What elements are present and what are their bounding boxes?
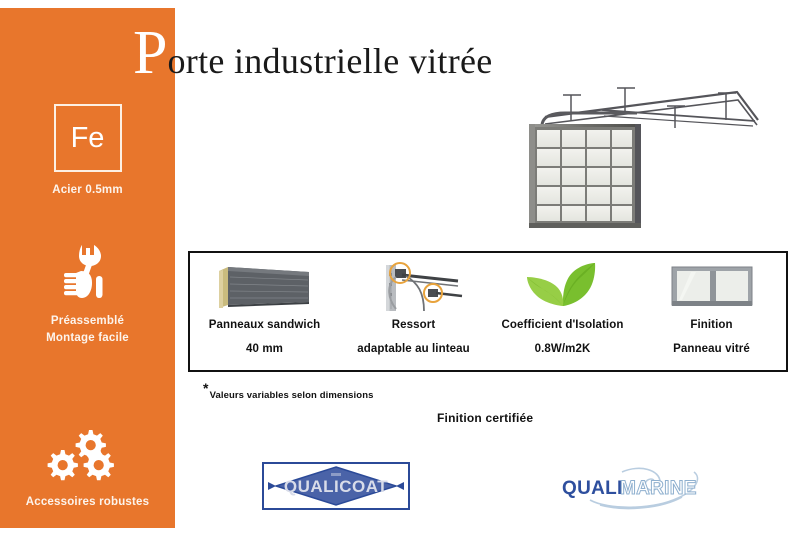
certification-heading: Finition certifiée	[437, 411, 533, 425]
page-title-text: orte industrielle vitrée	[167, 30, 492, 92]
hand-wrench-icon	[60, 243, 116, 301]
glazed-panel-icon	[660, 261, 764, 313]
fe-symbol-label: Fe	[71, 124, 105, 153]
spring-mechanism-icon	[362, 261, 466, 313]
feature-insulation-value: 0.8W/m2K	[535, 343, 591, 355]
sectional-glazed-door-icon	[505, 80, 780, 230]
feature-spring-art	[362, 258, 466, 316]
feature-panel: Panneaux sandwich 40 mm	[190, 253, 339, 370]
feature-panel-value: 40 mm	[246, 343, 283, 355]
sidebar-item-accessories-label: Accessoires robustes	[0, 494, 175, 511]
product-spec-sheet: Fe Acier 0.5mm Préassemblé Montage facil…	[0, 0, 800, 534]
feature-panel-art	[213, 258, 317, 316]
qualicoat-wordmark: QUALICOAT	[284, 477, 388, 496]
footnote-asterisk: *	[203, 380, 209, 396]
feature-spring-title: Ressort	[392, 319, 436, 331]
qualimarine-logo-mark: QUALI MARINE	[556, 466, 716, 510]
gears-icon	[45, 430, 131, 482]
qualicoat-logo: QUALICOAT	[262, 462, 410, 510]
fe-element-square-icon: Fe	[54, 104, 122, 172]
feature-insulation-art	[511, 258, 615, 316]
qualimarine-wordmark-primary: QUALI	[562, 478, 623, 499]
feature-finish-value: Panneau vitré	[673, 343, 750, 355]
sidebar-item-preassembled-label-2: Montage facile	[0, 330, 175, 347]
feature-insulation-title: Coefficient d'Isolation	[502, 319, 624, 331]
qualimarine-wordmark-secondary: MARINE	[620, 478, 697, 499]
feature-finish-art	[660, 258, 764, 316]
footnote: *Valeurs variables selon dimensions	[203, 380, 373, 401]
hero-product-image	[505, 80, 780, 235]
page-title-initial: P	[133, 22, 167, 84]
feature-finish: Finition Panneau vitré	[637, 253, 786, 370]
sidebar-item-accessories: Accessoires robustes	[0, 430, 175, 511]
footnote-text: Valeurs variables selon dimensions	[210, 390, 374, 401]
page-title: P orte industrielle vitrée	[133, 22, 493, 84]
sandwich-panel-icon	[213, 261, 317, 313]
sidebar-item-preassembled-label-1: Préassemblé	[0, 313, 175, 330]
feature-spring: Ressort adaptable au linteau	[339, 253, 488, 370]
sidebar-item-steel-label: Acier 0.5mm	[0, 182, 175, 199]
green-leaves-icon	[511, 261, 615, 313]
feature-specs-box: Panneaux sandwich 40 mm	[188, 251, 788, 372]
qualicoat-logo-mark: QUALICOAT	[264, 464, 408, 508]
qualimarine-logo: QUALI MARINE	[556, 466, 716, 510]
feature-panel-title: Panneaux sandwich	[209, 319, 321, 331]
feature-finish-title: Finition	[690, 319, 732, 331]
sidebar-item-preassembled: Préassemblé Montage facile	[0, 243, 175, 347]
feature-insulation: Coefficient d'Isolation 0.8W/m2K	[488, 253, 637, 370]
sidebar-item-steel: Fe Acier 0.5mm	[0, 104, 175, 199]
feature-spring-value: adaptable au linteau	[357, 343, 470, 355]
